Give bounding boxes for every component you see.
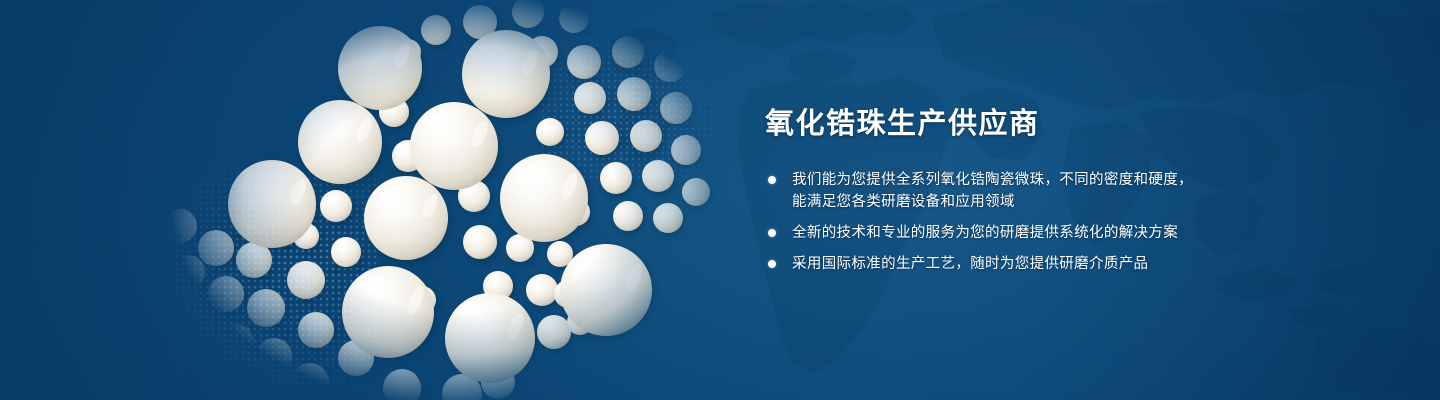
bullet-line: 我们能为您提供全系列氧化锆陶瓷微珠，不同的密度和硬度，	[792, 169, 1285, 191]
list-item: 我们能为您提供全系列氧化锆陶瓷微珠，不同的密度和硬度， 能满足您各类研磨设备和应…	[765, 169, 1285, 213]
bullet-dot-icon	[768, 260, 776, 268]
list-item: 全新的技术和专业的服务为您的研磨提供系统化的解决方案	[765, 222, 1285, 244]
bullet-dot-icon	[768, 229, 776, 237]
bullet-line: 采用国际标准的生产工艺，随时为您提供研磨介质产品	[792, 253, 1285, 275]
bullet-line: 全新的技术和专业的服务为您的研磨提供系统化的解决方案	[792, 222, 1285, 244]
bullet-line: 能满足您各类研磨设备和应用领域	[792, 191, 1285, 213]
feature-list: 我们能为您提供全系列氧化锆陶瓷微珠，不同的密度和硬度， 能满足您各类研磨设备和应…	[765, 169, 1285, 275]
list-item: 采用国际标准的生产工艺，随时为您提供研磨介质产品	[765, 253, 1285, 275]
banner-headline: 氧化锆珠生产供应商	[765, 106, 1285, 143]
hero-banner: 氧化锆珠生产供应商 我们能为您提供全系列氧化锆陶瓷微珠，不同的密度和硬度， 能满…	[0, 0, 1440, 400]
banner-copy: 氧化锆珠生产供应商 我们能为您提供全系列氧化锆陶瓷微珠，不同的密度和硬度， 能满…	[765, 106, 1285, 275]
bullet-dot-icon	[768, 176, 776, 184]
